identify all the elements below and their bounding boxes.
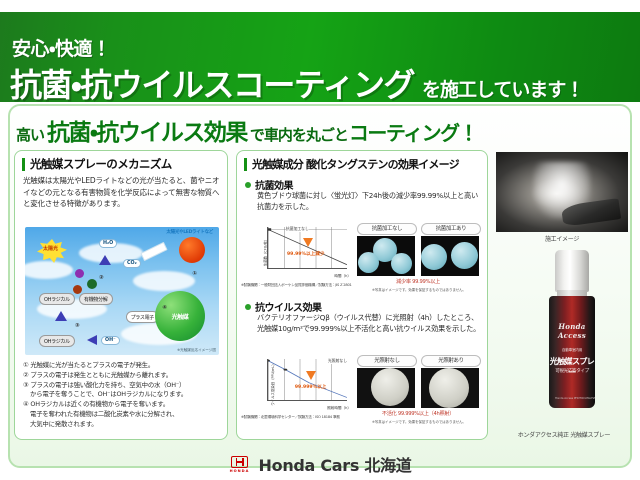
molecule-oh-label: OH⁻ [101, 336, 120, 345]
list-item: から電子を奪うことで、OH⁻はOHラジカルになります。 [23, 390, 221, 399]
product-bottle: Honda Access 自動車室内用 光触媒スプレー 可視光応答タイプ Hon… [548, 250, 596, 410]
title-accent-bar [244, 158, 247, 171]
step-marker-3: ③ [75, 323, 80, 329]
antiviral-heading: 抗ウイルス効果 [245, 299, 322, 314]
left-arrow-icon [87, 335, 97, 345]
antibacterial-heading: 抗菌効果 [245, 177, 293, 192]
step-marker-4: ④ [162, 305, 167, 311]
list-item: ④ OHラジカルは近くの有機物から電子を奪います。 [23, 400, 221, 409]
organic-decomposition-label: 有機物分解 [79, 293, 113, 305]
bullet-dot-icon [245, 182, 251, 188]
subtitle-part1: 高い [16, 124, 44, 143]
mechanism-panel: 光触媒スプレーのメカニズム 光触媒は太陽光やLEDライトなどの光が当たると、菌や… [14, 150, 228, 440]
photo-label-untreated: 抗菌加工なし [357, 223, 417, 235]
honda-h-mark [231, 456, 248, 468]
subtitle-part3: で車内を丸ごと [250, 124, 348, 143]
colony-shape [391, 253, 412, 274]
photo-label-treated: 抗菌加工あり [421, 223, 481, 235]
up-arrow-icon [99, 255, 111, 265]
mechanism-steps-list: ① 光触媒に光が当たるとプラスの電子が発生。 ② プラスの電子は発生とともに光触… [23, 361, 221, 429]
petri-photo-treated [421, 236, 479, 276]
honda-logo-icon: HONDA [229, 454, 251, 474]
list-item: ② プラスの電子は発生とともに光触媒から離れます。 [23, 371, 221, 380]
cloud-shape [133, 271, 195, 291]
antiviral-result-subnote: ※写真はイメージです。効果を保証するものではありません。 [355, 419, 483, 424]
virus-photo-no-light [357, 368, 415, 408]
advertisement-page: 安心・快適！ 抗菌・抗ウイルスコーティング を施工しています！ 高い 抗菌・抗ウ… [0, 0, 640, 480]
dish-shape [429, 368, 469, 408]
oh-radical-label-2: OHラジカル [39, 335, 75, 347]
footer: HONDA Honda Cars 北海道 [0, 448, 640, 480]
antibacterial-description: 黄色ブドウ球菌に対し〈蛍光灯〉下24h後の減少率99.99%以上と高い抗菌力を示… [257, 191, 479, 213]
molecule-dot [87, 279, 97, 289]
photo-label-with-light: 光照射あり [421, 355, 481, 367]
bottle-type-label: 可視光応答タイプ [549, 368, 595, 374]
molecule-h2o-label: H₂O [99, 239, 117, 248]
banner-headline-suffix: を施工しています！ [422, 75, 583, 102]
chart-x-axis-label: 照射時間（h） [327, 406, 351, 411]
antibacterial-chart: 生菌数（CFU/枚） 抗菌加工なし 99.99%以上減少 時間（h） [251, 223, 349, 281]
antibacterial-result-note: 減少率 99.99%以上 [357, 278, 479, 285]
bottle-body: Honda Access 自動車室内用 光触媒スプレー 可視光応答タイプ Hon… [549, 296, 595, 408]
sunlight-label: 太陽光 [43, 245, 58, 252]
petri-photo-untreated [357, 236, 415, 276]
cloud-shape [25, 261, 73, 279]
mechanism-panel-title: 光触媒スプレーのメカニズム [22, 156, 172, 172]
list-item: 大気中に発散されます。 [23, 420, 221, 429]
bottle-cap [555, 250, 589, 292]
chart-plot-area: 光照射なし 99.999%以上 [267, 359, 347, 401]
molecule-dot [73, 285, 82, 294]
antiviral-chart: ウイルス感染価（PFU/mL） 光照射なし 99.999%以上 照射時間（h） [251, 355, 349, 413]
led-label: 太陽光やLEDライトなど [166, 229, 213, 235]
title-accent-bar [22, 158, 25, 171]
chart-x-axis-label: 時間（h） [334, 274, 351, 279]
effect-title-text: 光触媒成分 酸化タングステンの効果イメージ [252, 156, 459, 172]
banner-tagline: 安心・快適！ [12, 34, 110, 61]
bottle-product-name: 光触媒スプレー [549, 356, 595, 378]
mechanism-title-text: 光触媒スプレーのメカニズム [30, 156, 172, 172]
chart-series-tag: 光照射なし [328, 358, 347, 364]
dealer-name: Honda Cars 北海道 [259, 452, 412, 476]
bottle-brand-label: Honda Access [549, 322, 595, 340]
led-light-icon [140, 242, 167, 261]
banner-headline: 抗菌・抗ウイルスコーティング [10, 60, 414, 102]
decrease-arrow-icon [306, 371, 316, 380]
molecule-dot [75, 269, 84, 278]
header-banner: 安心・快適！ 抗菌・抗ウイルスコーティング を施工しています！ [0, 12, 640, 102]
antibacterial-label: 抗菌効果 [255, 177, 293, 192]
oh-radical-label-1: OHラジカル [39, 293, 75, 305]
chart-callout: 99.99%以上減少 [287, 251, 325, 257]
photocatalyst-sphere: 光触媒 [155, 291, 205, 341]
effect-panel: 光触媒成分 酸化タングステンの効果イメージ 抗菌効果 黄色ブドウ球菌に対し〈蛍光… [236, 150, 488, 440]
effect-panel-title: 光触媒成分 酸化タングステンの効果イメージ [244, 156, 459, 172]
honda-wordmark: HONDA [230, 469, 250, 473]
mechanism-description: 光触媒は太陽光やLEDライトなどの光が当たると、菌やニオイなどの元となる有害物質… [23, 175, 221, 210]
up-arrow-icon [55, 311, 67, 321]
list-item: ③ プラスの電子は強い酸化力を持ち、空気中の水（OH⁻） [23, 381, 221, 390]
step-marker-1: ① [192, 271, 197, 277]
colony-shape [421, 244, 447, 270]
list-item: 電子を奪われた有機物は二酸化炭素や水に分解され、 [23, 410, 221, 419]
step-marker-2: ② [99, 275, 104, 281]
list-item: ① 光触媒に光が当たるとプラスの電子が発生。 [23, 361, 221, 370]
chart-series-line [268, 227, 347, 268]
bottle-footer-text: Honda Access PHOTOCATALYST SPRAY [555, 397, 589, 400]
chart-callout: 99.999%以上 [295, 384, 327, 390]
photocatalyst-diagram: 太陽光 太陽光やLEDライトなど H₂O CO₂ OH⁻ 有機物分解 OHラジカ… [25, 227, 219, 355]
chart-series-tag: 抗菌加工なし [286, 226, 309, 232]
antiviral-label: 抗ウイルス効果 [255, 299, 322, 314]
chart-plot-area: 抗菌加工なし 99.99%以上減少 [267, 227, 347, 269]
spray-photo-caption: 施工イメージ [496, 234, 628, 243]
virus-photo-with-light [421, 368, 479, 408]
bottle-sub-label: 自動車室内用 [549, 348, 595, 353]
spray-application-photo [496, 152, 628, 232]
bullet-dot-icon [245, 304, 251, 310]
product-caption: ホンダアクセス純正 光触媒スプレー [494, 430, 634, 439]
photo-label-no-light: 光照射なし [357, 355, 417, 367]
subtitle-part4: コーティング！ [349, 117, 477, 143]
colony-shape [358, 252, 379, 273]
subtitle-part2: 抗菌・抗ウイルス効果 [47, 113, 247, 143]
plus-electron-label: プラス電子 [126, 311, 159, 323]
antiviral-result-note: 不活化 99.999%以上（4h照射） [355, 410, 481, 417]
molecule-co2-label: CO₂ [123, 259, 141, 268]
colony-shape [451, 242, 478, 269]
sun-icon [179, 237, 205, 263]
photocatalyst-sphere-label: 光触媒 [172, 312, 189, 321]
decrease-arrow-icon [303, 238, 313, 247]
antibacterial-result-subnote: ※写真はイメージです。効果を保証するものではありません。 [355, 287, 483, 292]
banner-headline-row: 抗菌・抗ウイルスコーティング を施工しています！ [10, 60, 583, 102]
subtitle-row: 高い 抗菌・抗ウイルス効果 で車内を丸ごと コーティング！ [16, 113, 626, 143]
dish-shape [371, 368, 409, 406]
antiviral-description: バクテリオファージQβ（ウイルス代替）に光照射（4h）したところ、光触媒10g/… [257, 313, 481, 335]
diagram-note: ※光触媒反応イメージ図 [177, 348, 216, 353]
